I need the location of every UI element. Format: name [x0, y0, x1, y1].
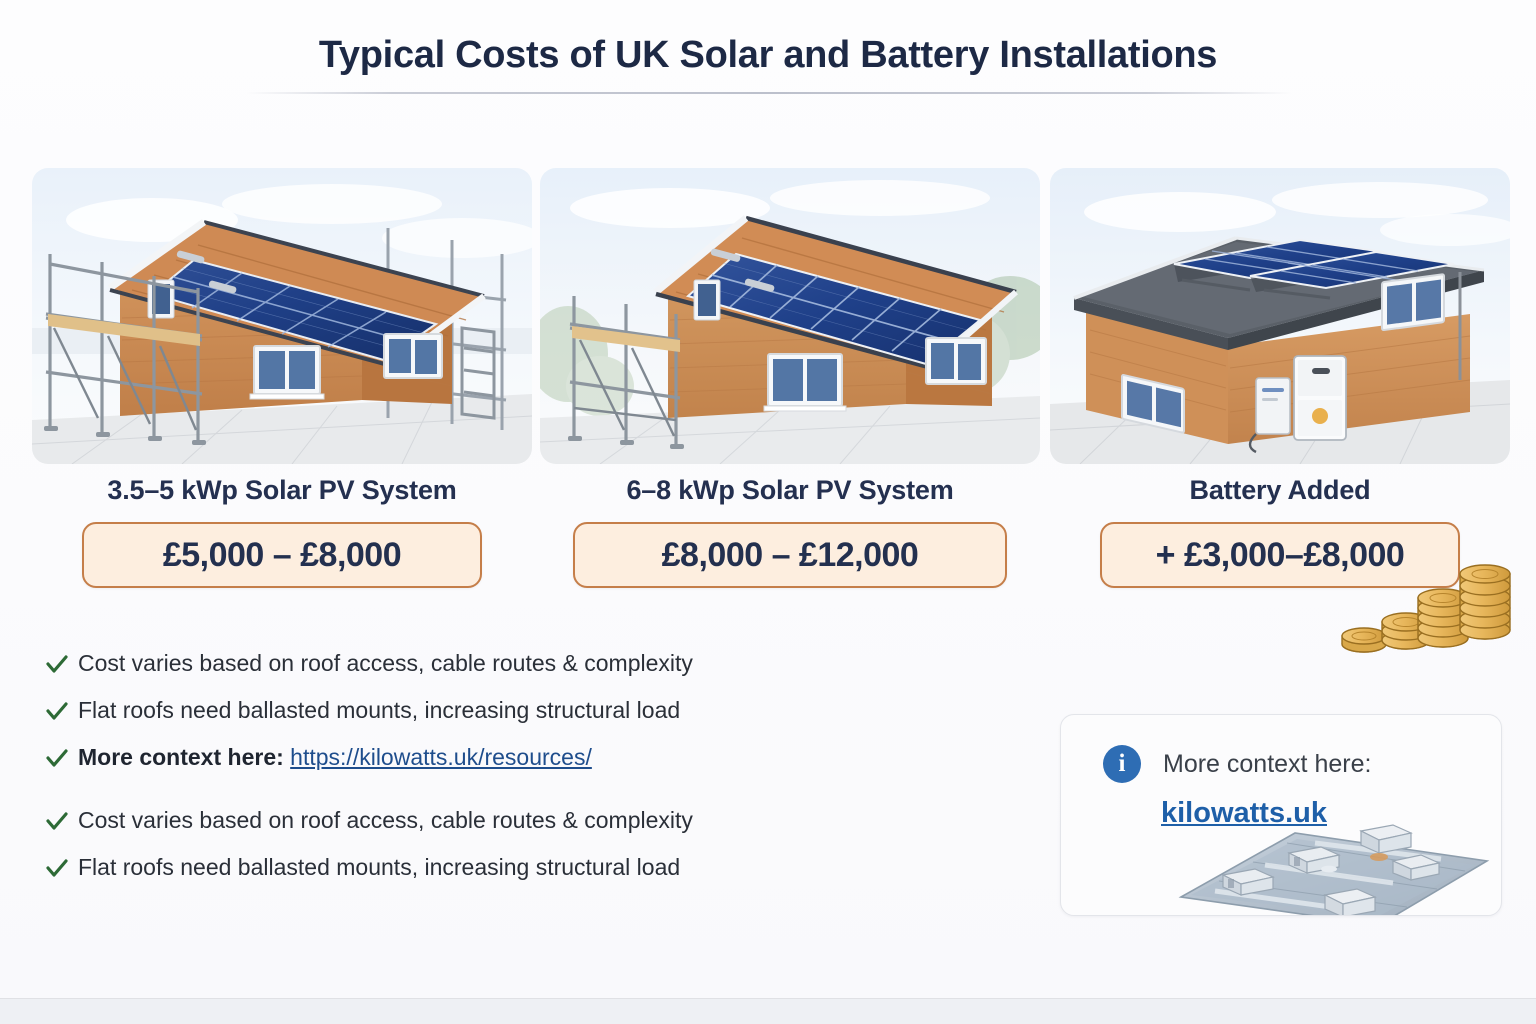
check-icon	[44, 808, 78, 838]
list-item: Flat roofs need ballasted mounts, increa…	[44, 852, 944, 885]
illustration-pitched-roof-house-large	[540, 168, 1040, 464]
card-column-1: 3.5–5 kWp Solar PV System £5,000 – £8,00…	[32, 474, 532, 588]
list-item: Cost varies based on roof access, cable …	[44, 805, 944, 838]
list-item-text: Cost varies based on roof access, cable …	[78, 648, 693, 678]
rooftop-array-illustration	[1169, 799, 1499, 916]
check-icon	[44, 651, 78, 681]
card-label-2: 6–8 kWp Solar PV System	[540, 474, 1040, 506]
illustration-flat-roof-with-battery	[1050, 168, 1510, 464]
price-badge-1: £5,000 – £8,000	[82, 522, 482, 588]
coin-stack-icon	[1336, 546, 1516, 656]
list-item-with-link: More context here: https://kilowatts.uk/…	[44, 742, 944, 775]
check-icon	[44, 698, 78, 728]
list-item-separator: :	[276, 744, 284, 770]
list-item-text: Flat roofs need ballasted mounts, increa…	[78, 695, 680, 725]
info-card-label: More context here:	[1163, 750, 1371, 779]
info-card: i More context here: kilowatts.uk	[1060, 714, 1502, 916]
list-item: Cost varies based on roof access, cable …	[44, 648, 944, 681]
check-icon	[44, 745, 78, 775]
infographic-page: Typical Costs of UK Solar and Battery In…	[0, 0, 1536, 998]
price-badge-2: £8,000 – £12,000	[573, 522, 1007, 588]
page-title: Typical Costs of UK Solar and Battery In…	[0, 34, 1536, 77]
title-divider	[246, 92, 1292, 94]
illustration-pitched-roof-house-small	[32, 168, 532, 464]
illustration-row	[0, 168, 1536, 468]
resources-link[interactable]: https://kilowatts.uk/resources/	[290, 744, 592, 770]
card-column-2: 6–8 kWp Solar PV System £8,000 – £12,000	[540, 474, 1040, 588]
list-item-lead: More context here	[78, 744, 276, 770]
list-item: Flat roofs need ballasted mounts, increa…	[44, 695, 944, 728]
card-label-1: 3.5–5 kWp Solar PV System	[32, 474, 532, 506]
info-circle-icon: i	[1103, 745, 1141, 783]
check-icon	[44, 855, 78, 885]
list-item-text: Flat roofs need ballasted mounts, increa…	[78, 852, 680, 882]
info-card-header: i More context here:	[1103, 745, 1371, 783]
list-item-text: Cost varies based on roof access, cable …	[78, 805, 693, 835]
bullet-list: Cost varies based on roof access, cable …	[44, 648, 944, 899]
list-item-text: More context here: https://kilowatts.uk/…	[78, 742, 592, 772]
card-label-3: Battery Added	[1050, 474, 1510, 506]
